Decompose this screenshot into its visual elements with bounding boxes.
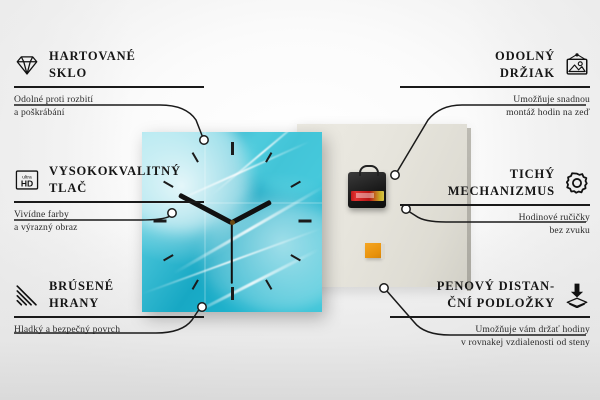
callout-subtitle-line: a výrazný obraz: [14, 221, 204, 234]
divider: [14, 86, 204, 88]
callout-title-line: VYSOKOKVALITNÝ: [49, 163, 181, 180]
callout-subtitle-line: montáž hodin na zeď: [400, 106, 590, 119]
callout-high-quality-print[interactable]: ultra HD VYSOKOKVALITNÝ TLAČ Vivídne far…: [14, 163, 204, 234]
node-hardened-glass: [200, 136, 208, 144]
hatch-lines-icon: [14, 282, 40, 308]
callout-subtitle-line: v rovnakej vzdialenosti od steny: [390, 336, 590, 349]
callout-subtitle-line: Hladký a bezpečný povrch: [14, 323, 204, 336]
node-holder: [391, 171, 399, 179]
callout-durable-holder[interactable]: ODOLNÝ DRŽIAK Umožňuje snadnou montáž ho…: [400, 48, 590, 119]
callout-subtitle-line: a poškrábání: [14, 106, 204, 119]
arrow-onto-pads-icon: [564, 282, 590, 308]
callout-title-line: DRŽIAK: [495, 65, 555, 82]
callout-title-line: SKLO: [49, 65, 136, 82]
callout-title-line: PENOVÝ DISTAN-: [437, 278, 555, 295]
callout-subtitle-line: bez zvuku: [400, 224, 590, 237]
divider: [400, 86, 590, 88]
callout-foam-spacers[interactable]: PENOVÝ DISTAN- ČNÍ PODLOŽKY Umožňuje vám…: [390, 278, 590, 349]
callout-subtitle-line: Hodinové ručičky: [400, 211, 590, 224]
callout-title-line: ODOLNÝ: [495, 48, 555, 65]
callout-subtitle-line: Odolné proti rozbití: [14, 93, 204, 106]
divider: [390, 316, 590, 318]
callout-title-line: TICHÝ: [448, 166, 555, 183]
callout-subtitle-line: Vivídne farby: [14, 208, 204, 221]
infographic-canvas: HARTOVANÉ SKLO Odolné proti rozbití a po…: [0, 0, 600, 400]
callout-title-line: ČNÍ PODLOŽKY: [437, 295, 555, 312]
divider: [400, 204, 590, 206]
callout-silent-mechanism[interactable]: TICHÝ MECHANIZMUS Hodinové ručičky bez z…: [400, 166, 590, 237]
callout-title-line: HARTOVANÉ: [49, 48, 136, 65]
gear-icon: [564, 170, 590, 196]
callout-title-line: TLAČ: [49, 180, 181, 197]
node-foam: [380, 284, 388, 292]
callout-subtitle-line: Umožňuje vám držať hodiny: [390, 323, 590, 336]
callout-title-line: MECHANIZMUS: [448, 183, 555, 200]
callout-title-line: HRANY: [49, 295, 114, 312]
callout-subtitle-line: Umožňuje snadnou: [400, 93, 590, 106]
svg-text:HD: HD: [21, 178, 33, 188]
diamond-icon: [14, 52, 40, 78]
divider: [14, 201, 204, 203]
callout-title-line: BRÚSENÉ: [49, 278, 114, 295]
callout-hardened-glass[interactable]: HARTOVANÉ SKLO Odolné proti rozbití a po…: [14, 48, 204, 119]
framed-picture-icon: [564, 52, 590, 78]
callout-ground-edges[interactable]: BRÚSENÉ HRANY Hladký a bezpečný povrch: [14, 278, 204, 336]
divider: [14, 316, 204, 318]
ultra-hd-icon: ultra HD: [14, 167, 40, 193]
